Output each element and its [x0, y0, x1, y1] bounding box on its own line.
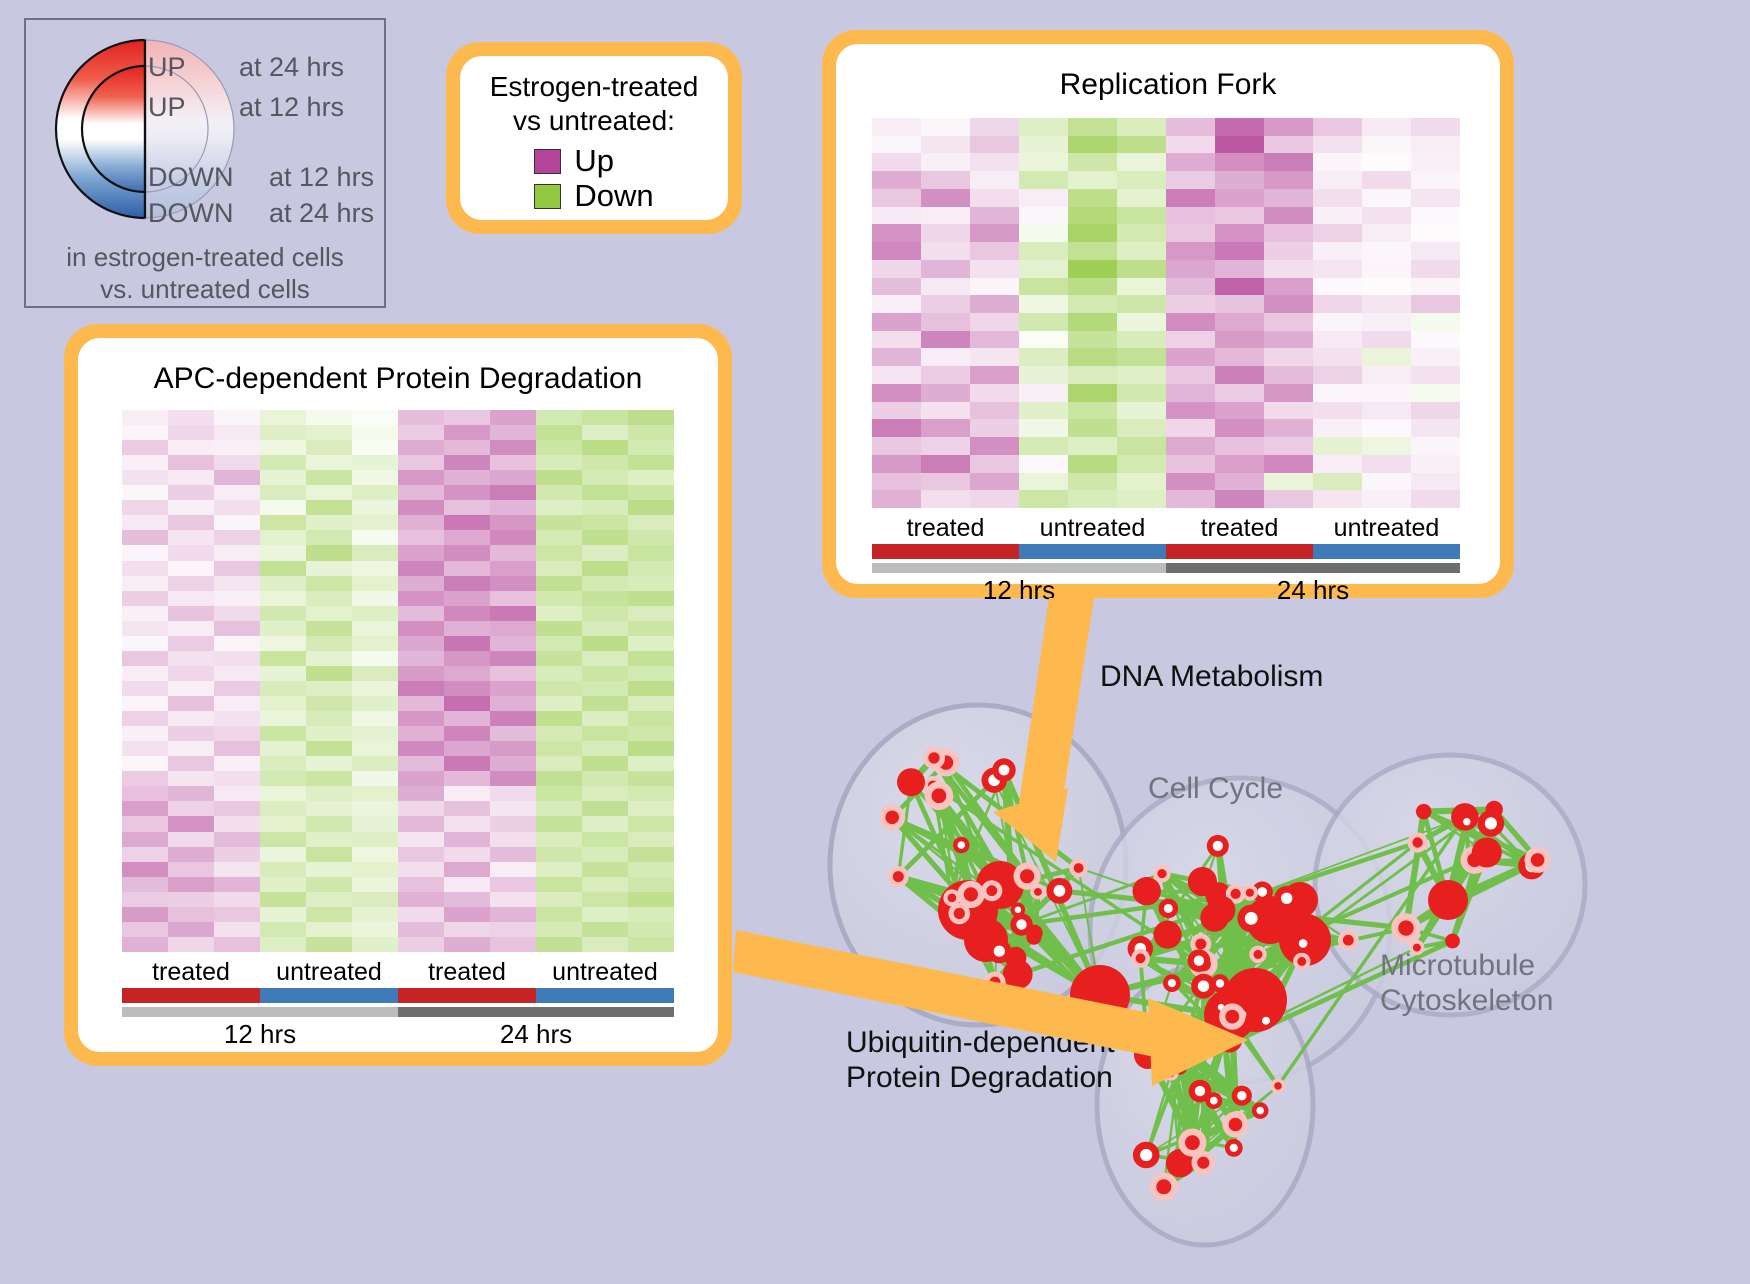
- network-node-core: [1485, 817, 1497, 829]
- heatmap-cell: [306, 485, 352, 500]
- heatmap-cell: [1166, 419, 1215, 437]
- heatmap-cell: [1313, 419, 1362, 437]
- heatmap-cell: [122, 832, 168, 847]
- network-node: [1428, 880, 1468, 920]
- panel-title-replication-fork: Replication Fork: [836, 68, 1500, 102]
- color-key-status-0: UP: [148, 52, 186, 83]
- heatmap-cell: [306, 440, 352, 455]
- heatmap-cell: [168, 576, 214, 591]
- heatmap-cell: [536, 530, 582, 545]
- heatmap-cell: [260, 636, 306, 651]
- network-node-core: [994, 946, 1005, 957]
- heatmap-cell: [970, 136, 1019, 154]
- network-node-core: [1254, 950, 1263, 959]
- heatmap-cell: [1411, 189, 1460, 207]
- network-node-core: [1074, 863, 1084, 873]
- heatmap-cell: [352, 545, 398, 560]
- heatmap-cell: [214, 832, 260, 847]
- color-key-time-2: at 12 hrs: [269, 162, 374, 193]
- heatmap-cell: [1264, 207, 1313, 225]
- heatmap-cell: [122, 907, 168, 922]
- heatmap-cell: [921, 437, 970, 455]
- heatmap-cell: [444, 591, 490, 606]
- heatmap-cell: [398, 500, 444, 515]
- heatmap-cell: [444, 681, 490, 696]
- heatmap-cell: [1117, 189, 1166, 207]
- heatmap-cell: [398, 681, 444, 696]
- network-node: [1472, 838, 1502, 868]
- heatmap-cell: [536, 651, 582, 666]
- heatmap-cell: [352, 455, 398, 470]
- heatmap-cell: [490, 530, 536, 545]
- heatmap-cell: [490, 651, 536, 666]
- heatmap-cell: [260, 666, 306, 681]
- network-node-core: [990, 977, 1001, 988]
- heatmap-cell: [628, 816, 674, 831]
- heatmap-cell: [1264, 153, 1313, 171]
- heatmap-cell: [214, 726, 260, 741]
- heatmap-cell: [122, 440, 168, 455]
- heatmap-cell: [628, 470, 674, 485]
- heatmap-cell: [490, 440, 536, 455]
- heatmap-cell: [1362, 313, 1411, 331]
- heatmap-cell: [306, 756, 352, 771]
- heatmap-cell: [444, 485, 490, 500]
- heatmap-cell: [1166, 189, 1215, 207]
- panel-apc-degradation-inner: APC-dependent Protein Degradation treate…: [78, 338, 718, 1052]
- heatmap-cell: [1166, 384, 1215, 402]
- heatmap-cell: [260, 847, 306, 862]
- network-node-core: [1136, 953, 1146, 963]
- heatmap-cell: [1362, 207, 1411, 225]
- heatmap-cell: [628, 801, 674, 816]
- heatmap-cell: [214, 907, 260, 922]
- heatmap-cell: [352, 877, 398, 892]
- network-node: [1003, 960, 1033, 990]
- heatmap-cell: [536, 666, 582, 681]
- heatmap-cell: [168, 651, 214, 666]
- heatmap-cell: [490, 847, 536, 862]
- heatmap-cell: [168, 726, 214, 741]
- heatmap-cell: [490, 922, 536, 937]
- heatmap-cell: [168, 862, 214, 877]
- heatmap-cell: [168, 410, 214, 425]
- heatmap-cell: [122, 591, 168, 606]
- heatmap-cell: [872, 278, 921, 296]
- heatmap-cell: [352, 636, 398, 651]
- heatmap-cell: [872, 402, 921, 420]
- time-bar-replication-fork: [872, 563, 1460, 573]
- network-node-core: [1016, 919, 1026, 929]
- heatmap-cell: [122, 862, 168, 877]
- heatmap-cell: [260, 801, 306, 816]
- heatmap-apc-degradation: [122, 410, 674, 952]
- heatmap-cell: [536, 545, 582, 560]
- heatmap-cell: [122, 470, 168, 485]
- heatmap-cell: [168, 922, 214, 937]
- heatmap-cell: [921, 278, 970, 296]
- heatmap-cell: [168, 440, 214, 455]
- heatmap-cell: [1215, 242, 1264, 260]
- heatmap-cell: [444, 470, 490, 485]
- network-node-core: [948, 894, 957, 903]
- heatmap-cell: [1068, 153, 1117, 171]
- heatmap-cell: [582, 726, 628, 741]
- heatmap-cell: [444, 832, 490, 847]
- heatmap-cell: [1411, 313, 1460, 331]
- heatmap-cell: [1117, 366, 1166, 384]
- network-node: [1416, 804, 1431, 819]
- heatmap-cell: [214, 696, 260, 711]
- heatmap-cell: [582, 816, 628, 831]
- heatmap-cell: [260, 455, 306, 470]
- network-node-core: [885, 811, 899, 825]
- heatmap-cell: [1068, 171, 1117, 189]
- heatmap-cell: [872, 295, 921, 313]
- heatmap-cell: [444, 816, 490, 831]
- heatmap-cell: [352, 741, 398, 756]
- heatmap-cell: [1313, 242, 1362, 260]
- network-node-core: [1174, 1045, 1182, 1053]
- heatmap-cell: [214, 937, 260, 952]
- heatmap-cell: [398, 425, 444, 440]
- heatmap-cell: [536, 711, 582, 726]
- heatmap-cell: [214, 515, 260, 530]
- panel-apc-degradation: APC-dependent Protein Degradation treate…: [64, 324, 732, 1066]
- condition-bar-replication-fork: [872, 544, 1460, 559]
- heatmap-cell: [398, 741, 444, 756]
- heatmap-cell: [214, 862, 260, 877]
- heatmap-cell: [536, 470, 582, 485]
- heatmap-cell: [628, 786, 674, 801]
- heatmap-cell: [214, 651, 260, 666]
- heatmap-cell: [352, 711, 398, 726]
- heatmap-cell: [444, 440, 490, 455]
- heatmap-cell: [490, 741, 536, 756]
- heatmap-cell: [1215, 171, 1264, 189]
- heatmap-cell: [260, 410, 306, 425]
- network-node-core: [1229, 1118, 1243, 1132]
- heatmap-cell: [1411, 402, 1460, 420]
- heatmap-cell: [352, 726, 398, 741]
- heatmap-cell: [260, 816, 306, 831]
- color-key-status-3: DOWN: [148, 198, 233, 229]
- heatmap-cell: [1411, 260, 1460, 278]
- heatmap-cell: [490, 832, 536, 847]
- heatmap-cell: [1362, 455, 1411, 473]
- heatmap-cell: [1411, 437, 1460, 455]
- heatmap-cell: [970, 402, 1019, 420]
- heatmap-cell: [582, 470, 628, 485]
- heatmap-cell: [872, 473, 921, 491]
- cluster-label-microtubule-line-1: Microtubule: [1380, 948, 1553, 983]
- legend-item-up-label: Up: [574, 145, 614, 178]
- heatmap-cell: [306, 500, 352, 515]
- network-node-core: [1258, 887, 1268, 897]
- heatmap-cell: [921, 118, 970, 136]
- heatmap-cell: [1019, 118, 1068, 136]
- heatmap-cell: [1117, 437, 1166, 455]
- heatmap-cell: [444, 786, 490, 801]
- heatmap-cell: [306, 726, 352, 741]
- heatmap-cell: [628, 832, 674, 847]
- heatmap-cell: [214, 892, 260, 907]
- heatmap-cell: [921, 366, 970, 384]
- network-node-core: [1237, 1091, 1246, 1100]
- network-node: [1445, 934, 1460, 949]
- network-node-core: [1246, 889, 1254, 897]
- heatmap-cell: [1215, 260, 1264, 278]
- heatmap-cell: [490, 756, 536, 771]
- heatmap-cell: [1411, 171, 1460, 189]
- heatmap-cell: [444, 711, 490, 726]
- heatmap-cell: [168, 877, 214, 892]
- heatmap-cell: [1117, 207, 1166, 225]
- heatmap-cell: [306, 606, 352, 621]
- heatmap-cell: [260, 545, 306, 560]
- network-node-core: [932, 788, 947, 803]
- network-node-core: [1194, 956, 1204, 966]
- network-node: [1134, 1041, 1162, 1069]
- heatmap-cell: [582, 651, 628, 666]
- heatmap-cell: [1215, 437, 1264, 455]
- heatmap-cell: [1313, 313, 1362, 331]
- heatmap-cell: [1411, 242, 1460, 260]
- heatmap-cell: [970, 313, 1019, 331]
- network-node-core: [1231, 889, 1241, 899]
- heatmap-cell: [168, 606, 214, 621]
- heatmap-cell: [122, 561, 168, 576]
- heatmap-cell: [970, 490, 1019, 508]
- heatmap-cell: [1166, 224, 1215, 242]
- heatmap-cell: [398, 816, 444, 831]
- heatmap-cell: [1411, 348, 1460, 366]
- network-node-core: [999, 765, 1010, 776]
- heatmap-cell: [582, 771, 628, 786]
- heatmap-cell: [168, 756, 214, 771]
- heatmap-cell: [444, 877, 490, 892]
- heatmap-cell: [1019, 224, 1068, 242]
- heatmap-cell: [921, 402, 970, 420]
- network-node: [1026, 930, 1041, 945]
- heatmap-cell: [306, 892, 352, 907]
- heatmap-cell: [398, 771, 444, 786]
- heatmap-cell: [1264, 242, 1313, 260]
- heatmap-cell: [490, 877, 536, 892]
- heatmap-cell: [306, 621, 352, 636]
- heatmap-cell: [921, 313, 970, 331]
- heatmap-cell: [260, 862, 306, 877]
- heatmap-cell: [1264, 313, 1313, 331]
- heatmap-cell: [1166, 490, 1215, 508]
- heatmap-cell: [582, 681, 628, 696]
- heatmap-cell: [168, 621, 214, 636]
- heatmap-cell: [1313, 136, 1362, 154]
- cluster-label-ubiquitin-line-2: Protein Degradation: [846, 1060, 1115, 1095]
- heatmap-cell: [306, 636, 352, 651]
- heatmap-cell: [398, 651, 444, 666]
- legend-title-line-2: vs untreated:: [490, 104, 699, 138]
- heatmap-cell: [260, 771, 306, 786]
- heatmap-cell: [260, 485, 306, 500]
- heatmap-cell: [122, 621, 168, 636]
- heatmap-cell: [536, 696, 582, 711]
- heatmap-cell: [1068, 419, 1117, 437]
- heatmap-cell: [628, 877, 674, 892]
- heatmap-cell: [122, 651, 168, 666]
- heatmap-cell: [122, 756, 168, 771]
- heatmap-cell: [536, 816, 582, 831]
- time-label: 12 hrs: [224, 1019, 296, 1050]
- heatmap-cell: [1068, 118, 1117, 136]
- network-node-core: [1463, 818, 1470, 825]
- heatmap-cell: [490, 907, 536, 922]
- heatmap-cell: [168, 636, 214, 651]
- heatmap-cell: [260, 892, 306, 907]
- heatmap-cell: [306, 696, 352, 711]
- heatmap-cell: [352, 922, 398, 937]
- heatmap-cell: [1019, 384, 1068, 402]
- heatmap-cell: [1117, 118, 1166, 136]
- heatmap-cell: [1362, 419, 1411, 437]
- heatmap-cell: [1117, 224, 1166, 242]
- heatmap-cell: [536, 756, 582, 771]
- heatmap-cell: [214, 741, 260, 756]
- heatmap-cell: [1068, 136, 1117, 154]
- heatmap-cell: [1362, 224, 1411, 242]
- heatmap-cell: [260, 500, 306, 515]
- heatmap-cell: [398, 877, 444, 892]
- heatmap-cell: [444, 515, 490, 530]
- heatmap-cell: [1166, 207, 1215, 225]
- heatmap-cell: [398, 515, 444, 530]
- heatmap-cell: [352, 561, 398, 576]
- heatmap-cell: [872, 118, 921, 136]
- condition-label: treated: [1201, 514, 1279, 543]
- heatmap-cell: [444, 651, 490, 666]
- heatmap-cell: [970, 331, 1019, 349]
- heatmap-cell: [214, 847, 260, 862]
- heatmap-cell: [352, 907, 398, 922]
- panel-replication-fork: Replication Fork treateduntreatedtreated…: [822, 30, 1514, 598]
- heatmap-cell: [490, 545, 536, 560]
- heatmap-cell: [306, 877, 352, 892]
- heatmap-cell: [352, 470, 398, 485]
- heatmap-cell: [628, 922, 674, 937]
- heatmap-cell: [260, 530, 306, 545]
- heatmap-cell: [1362, 348, 1411, 366]
- heatmap-cell: [582, 922, 628, 937]
- heatmap-cell: [536, 561, 582, 576]
- heatmap-cell: [306, 832, 352, 847]
- heatmap-cell: [628, 666, 674, 681]
- heatmap-cell: [122, 801, 168, 816]
- heatmap-cell: [1166, 136, 1215, 154]
- heatmap-cell: [970, 118, 1019, 136]
- network-node: [1231, 975, 1251, 995]
- heatmap-cell: [398, 485, 444, 500]
- heatmap-cell: [1068, 224, 1117, 242]
- heatmap-cell: [352, 681, 398, 696]
- heatmap-cell: [1362, 242, 1411, 260]
- network-node-core: [1224, 1034, 1236, 1046]
- heatmap-cell: [582, 907, 628, 922]
- heatmap-cell: [1117, 384, 1166, 402]
- heatmap-cell: [444, 892, 490, 907]
- heatmap-cell: [921, 384, 970, 402]
- network-node-core: [1140, 1149, 1152, 1161]
- heatmap-cell: [536, 937, 582, 952]
- heatmap-cell: [921, 207, 970, 225]
- heatmap-cell: [398, 606, 444, 621]
- heatmap-cell: [921, 295, 970, 313]
- heatmap-cell: [1264, 224, 1313, 242]
- heatmap-cell: [398, 922, 444, 937]
- heatmap-cell: [260, 711, 306, 726]
- heatmap-cell: [444, 636, 490, 651]
- heatmap-cell: [921, 473, 970, 491]
- condition-label: untreated: [552, 958, 658, 987]
- heatmap-cell: [398, 621, 444, 636]
- heatmap-cell: [398, 440, 444, 455]
- heatmap-cell: [1215, 490, 1264, 508]
- heatmap-cell: [260, 907, 306, 922]
- heatmap-cell: [628, 500, 674, 515]
- heatmap-cell: [628, 771, 674, 786]
- heatmap-cell: [1166, 331, 1215, 349]
- heatmap-cell: [1313, 348, 1362, 366]
- heatmap-cell: [490, 892, 536, 907]
- heatmap-cell: [168, 681, 214, 696]
- heatmap-cell: [306, 425, 352, 440]
- heatmap-cell: [352, 576, 398, 591]
- condition-bar-segment: [1166, 544, 1313, 559]
- heatmap-cell: [214, 561, 260, 576]
- cluster-label-ubiquitin-line-1: Ubiquitin-dependent: [846, 1025, 1115, 1060]
- heatmap-cell: [1313, 153, 1362, 171]
- heatmap-cell: [398, 862, 444, 877]
- heatmap-cell: [398, 711, 444, 726]
- heatmap-cell: [628, 937, 674, 952]
- heatmap-cell: [970, 207, 1019, 225]
- heatmap-cell: [1166, 437, 1215, 455]
- network-node-core: [1274, 1082, 1282, 1090]
- heatmap-cell: [490, 485, 536, 500]
- network-node-core: [1195, 1086, 1205, 1096]
- heatmap-cell: [628, 455, 674, 470]
- heatmap-cell: [352, 606, 398, 621]
- heatmap-cell: [1019, 260, 1068, 278]
- heatmap-cell: [1068, 348, 1117, 366]
- heatmap-cell: [1166, 348, 1215, 366]
- heatmap-cell: [398, 801, 444, 816]
- heatmap-cell: [536, 591, 582, 606]
- heatmap-cell: [122, 877, 168, 892]
- heatmap-cell: [536, 621, 582, 636]
- heatmap-cell: [306, 576, 352, 591]
- down-color-swatch: [534, 184, 561, 209]
- heatmap-cell: [1117, 313, 1166, 331]
- heatmap-cell: [1166, 455, 1215, 473]
- heatmap-cell: [490, 425, 536, 440]
- heatmap-cell: [970, 189, 1019, 207]
- heatmap-cell: [490, 410, 536, 425]
- heatmap-cell: [398, 591, 444, 606]
- heatmap-cell: [1264, 278, 1313, 296]
- heatmap-cell: [444, 410, 490, 425]
- heatmap-cell: [1068, 295, 1117, 313]
- condition-bar-segment: [1019, 544, 1166, 559]
